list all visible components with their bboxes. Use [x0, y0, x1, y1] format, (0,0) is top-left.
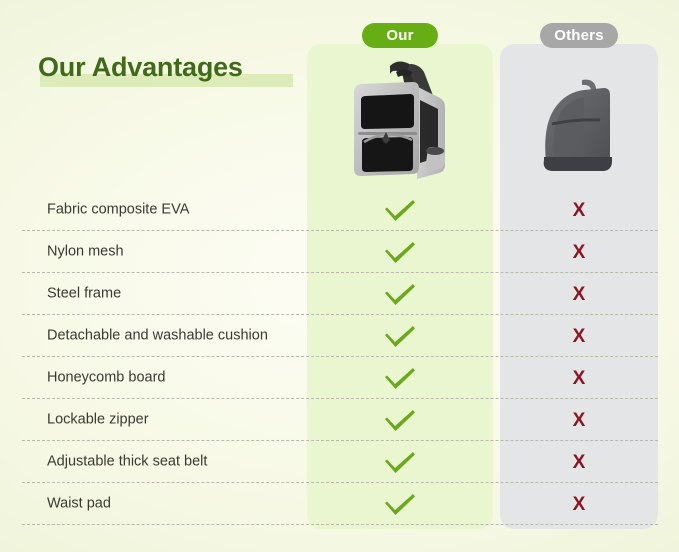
- check-icon: [383, 365, 417, 391]
- cross-icon: X: [573, 243, 586, 262]
- our-cell: [307, 231, 493, 273]
- check-icon: [383, 239, 417, 265]
- our-cell: [307, 357, 493, 399]
- check-icon: [383, 449, 417, 475]
- feature-label: Detachable and washable cushion: [47, 328, 268, 344]
- others-cell: X: [500, 357, 658, 399]
- feature-label: Waist pad: [47, 496, 111, 512]
- check-icon: [383, 281, 417, 307]
- our-cell: [307, 189, 493, 231]
- feature-label: Fabric composite EVA: [47, 202, 189, 218]
- others-cell: X: [500, 441, 658, 483]
- others-cell: X: [500, 399, 658, 441]
- others-cell: X: [500, 483, 658, 525]
- page-title-wrapper: Our Advantages: [38, 52, 308, 96]
- feature-label: Steel frame: [47, 286, 121, 302]
- cross-icon: X: [573, 201, 586, 220]
- others-product-image: [528, 62, 632, 184]
- table-row: Waist padX: [0, 483, 679, 525]
- check-icon: [383, 323, 417, 349]
- our-product-image: [344, 56, 456, 186]
- comparison-chart: Our Advantages Our Others: [0, 0, 679, 552]
- our-cell: [307, 399, 493, 441]
- our-cell: [307, 315, 493, 357]
- our-badge: Our: [362, 23, 438, 48]
- others-cell: X: [500, 273, 658, 315]
- table-row: Honeycomb boardX: [0, 357, 679, 399]
- feature-label: Nylon mesh: [47, 244, 124, 260]
- table-row: Fabric composite EVAX: [0, 189, 679, 231]
- others-cell: X: [500, 231, 658, 273]
- table-row: Detachable and washable cushionX: [0, 315, 679, 357]
- feature-label: Lockable zipper: [47, 412, 149, 428]
- others-cell: X: [500, 189, 658, 231]
- feature-label: Adjustable thick seat belt: [47, 454, 207, 470]
- feature-label: Honeycomb board: [47, 370, 166, 386]
- table-row: Nylon meshX: [0, 231, 679, 273]
- check-icon: [383, 407, 417, 433]
- cross-icon: X: [573, 453, 586, 472]
- others-badge: Others: [540, 23, 618, 48]
- page-title: Our Advantages: [38, 52, 243, 83]
- table-row: Lockable zipperX: [0, 399, 679, 441]
- check-icon: [383, 491, 417, 517]
- cross-icon: X: [573, 327, 586, 346]
- cross-icon: X: [573, 495, 586, 514]
- comparison-table: Fabric composite EVAXNylon meshXSteel fr…: [0, 189, 679, 525]
- our-cell: [307, 441, 493, 483]
- table-row: Adjustable thick seat beltX: [0, 441, 679, 483]
- check-icon: [383, 197, 417, 223]
- table-row: Steel frameX: [0, 273, 679, 315]
- row-separator: [22, 524, 658, 525]
- cross-icon: X: [573, 369, 586, 388]
- cross-icon: X: [573, 411, 586, 430]
- others-cell: X: [500, 315, 658, 357]
- our-cell: [307, 273, 493, 315]
- cross-icon: X: [573, 285, 586, 304]
- our-cell: [307, 483, 493, 525]
